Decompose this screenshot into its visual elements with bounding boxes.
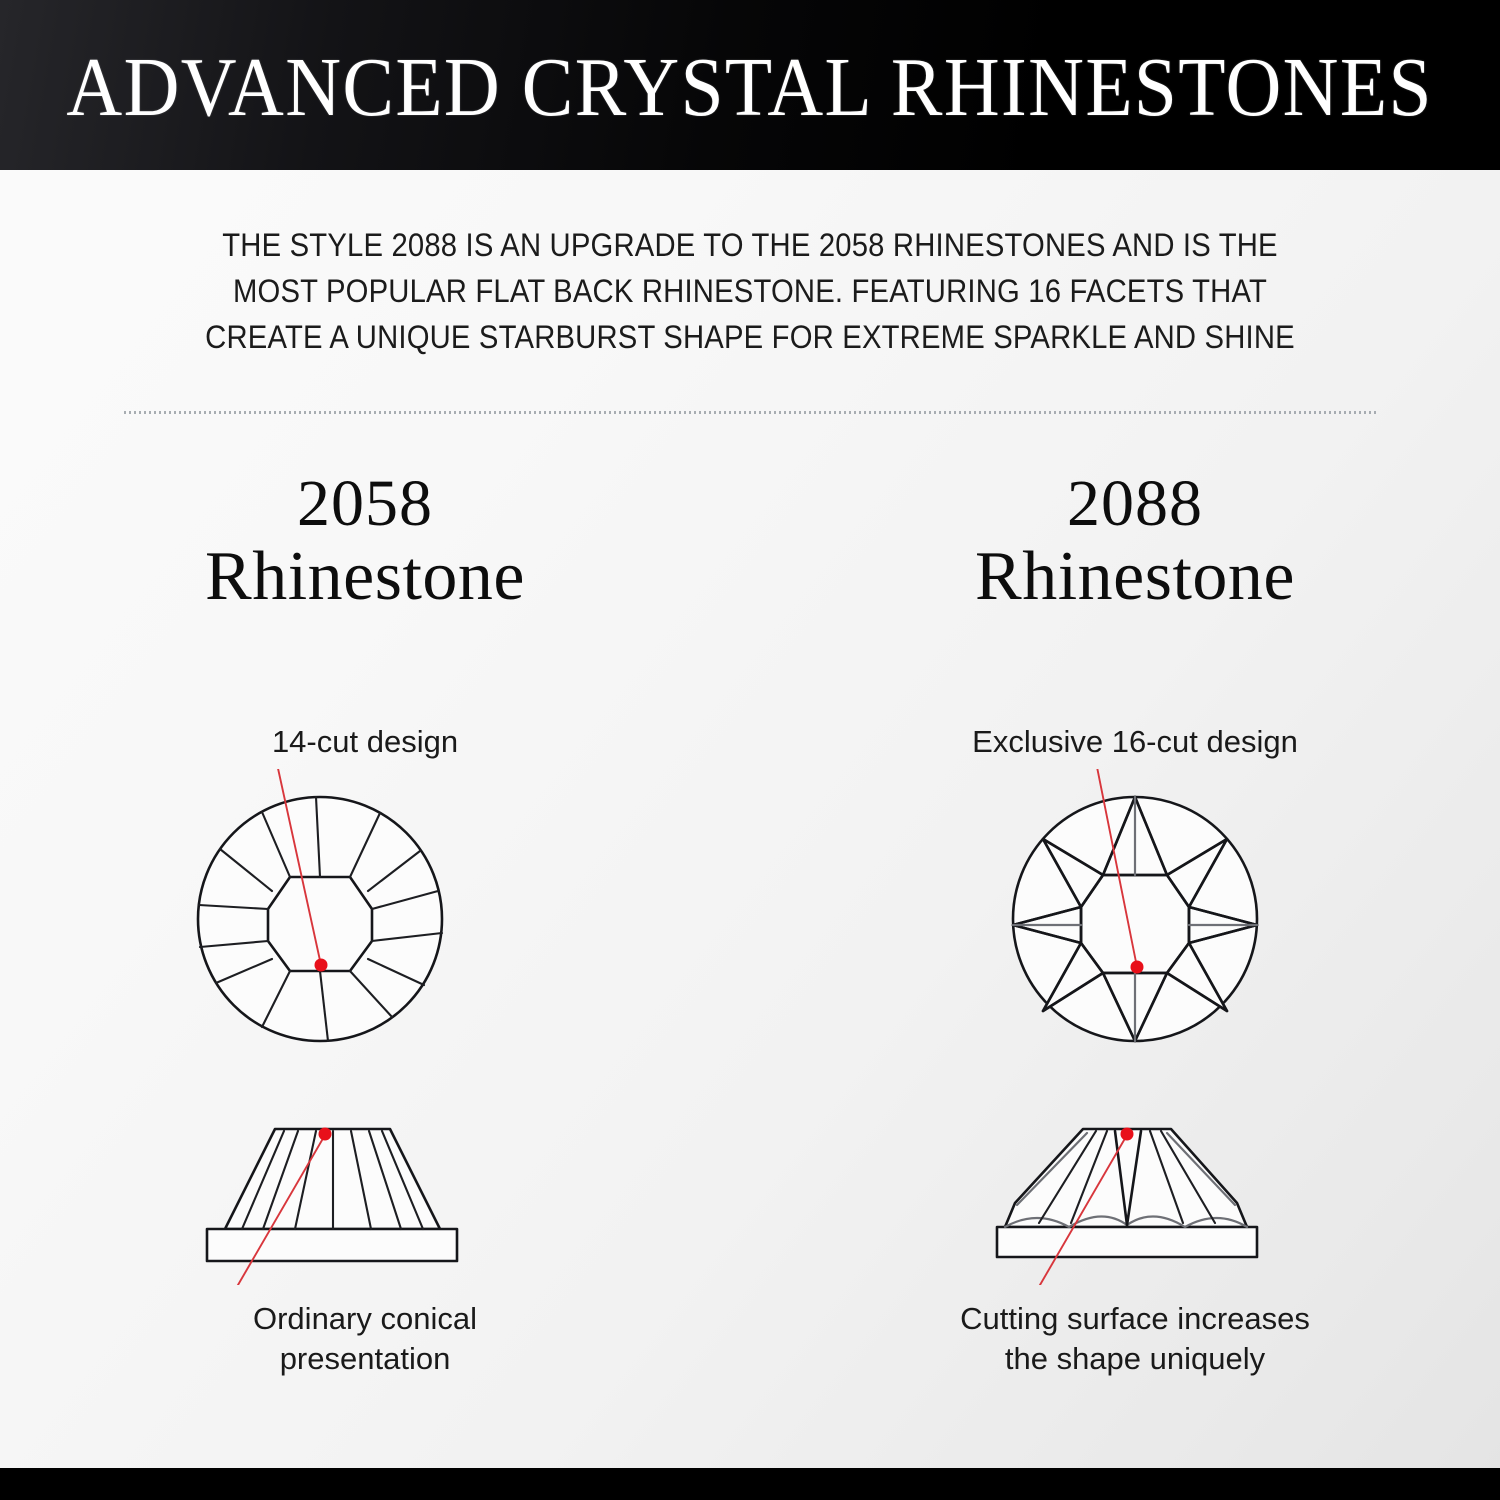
page-title: ADVANCED CRYSTAL RHINESTONES	[67, 46, 1433, 130]
annotation-2088-top: Exclusive 16-cut design	[825, 723, 1445, 762]
annotation-2058-bottom: Ordinary conical presentation	[55, 1299, 675, 1378]
rhinestone-2058-side-view-icon	[55, 1115, 675, 1285]
annotation-2088-bottom: Cutting surface increases the shape uniq…	[825, 1299, 1445, 1378]
description-text: THE STYLE 2088 IS AN UPGRADE TO THE 2058…	[174, 222, 1326, 360]
marker-dot	[1131, 961, 1144, 974]
marker-dot	[1121, 1128, 1134, 1141]
heading-number-2088: 2088	[825, 470, 1445, 537]
infographic-page: ADVANCED CRYSTAL RHINESTONES THE STYLE 2…	[0, 0, 1500, 1500]
heading-word-2058: Rhinestone	[55, 541, 675, 612]
heading-number-2058: 2058	[55, 470, 675, 537]
column-2058: 2058 Rhinestone 14-cut design	[55, 470, 675, 1379]
footer-bar	[0, 1468, 1500, 1500]
divider	[124, 411, 1376, 414]
rhinestone-2088-side-view-icon	[825, 1115, 1445, 1285]
column-2088: 2088 Rhinestone Exclusive 16-cut design	[825, 470, 1445, 1379]
heading-word-2088: Rhinestone	[825, 541, 1445, 612]
header-banner: ADVANCED CRYSTAL RHINESTONES	[0, 0, 1500, 170]
rhinestone-2058-top-view-icon	[55, 769, 675, 1069]
marker-dot	[315, 959, 328, 972]
marker-dot	[319, 1128, 332, 1141]
annotation-2058-top: 14-cut design	[55, 723, 675, 762]
rhinestone-2088-top-view-icon	[825, 769, 1445, 1069]
column-heading-2058: 2058 Rhinestone	[55, 470, 675, 613]
column-heading-2088: 2088 Rhinestone	[825, 470, 1445, 613]
